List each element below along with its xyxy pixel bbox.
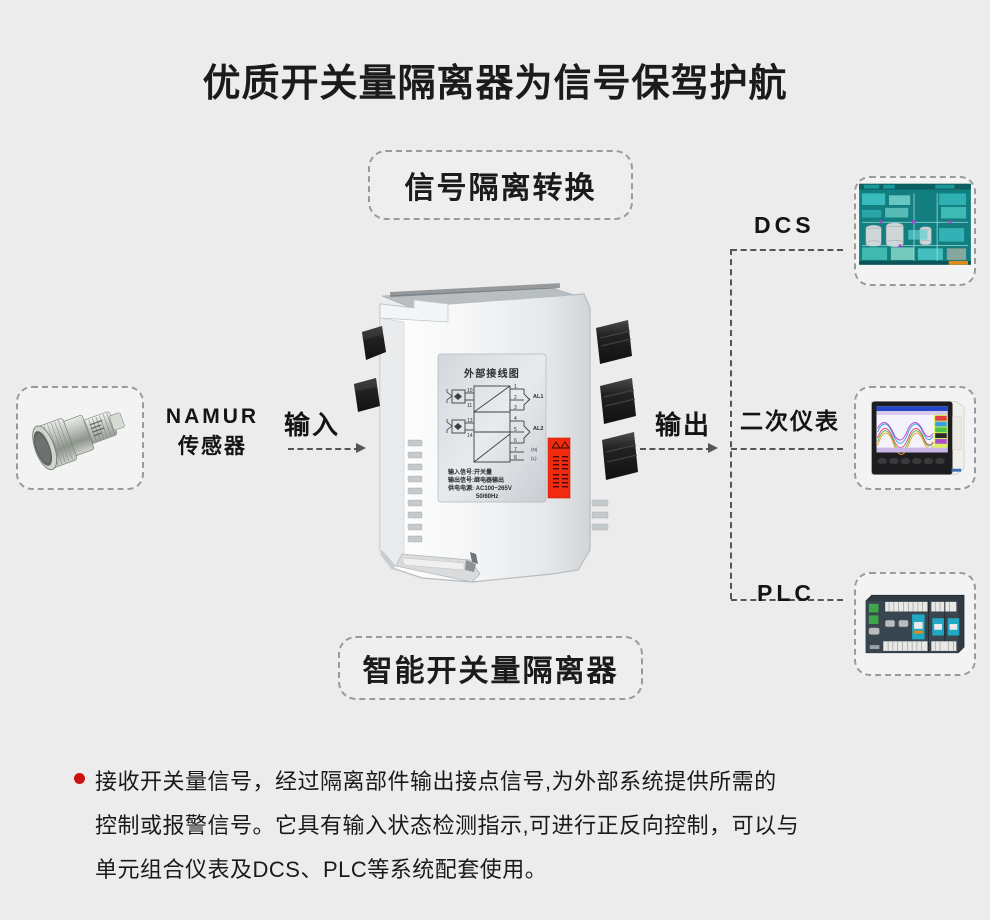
sensor-label-en: NAMUR — [150, 402, 275, 432]
output-label: 输出 — [655, 405, 711, 442]
plc-module-rack-icon — [856, 574, 974, 674]
svg-text:供电电源: AC100~265V: 供电电源: AC100~265V — [447, 484, 512, 492]
svg-text:14: 14 — [467, 433, 473, 439]
svg-text:AL2: AL2 — [533, 426, 543, 432]
sensor-label-cn: 传感器 — [150, 432, 275, 462]
svg-text:50/60Hz: 50/60Hz — [476, 494, 498, 500]
svg-text:1: 1 — [514, 384, 517, 390]
signal-isolator-device: 外部接线图 — [352, 282, 652, 594]
branch-line-secondary-instrument — [731, 448, 843, 450]
svg-text:11: 11 — [467, 403, 472, 409]
infographic-page: 优质开关量隔离器为信号保驾护航 信号隔离转换 智能开关量隔离器 — [0, 0, 990, 920]
recorder-image-frame — [854, 386, 976, 490]
svg-text:13: 13 — [467, 418, 473, 424]
svg-text:输出信号:继电器输出: 输出信号:继电器输出 — [448, 476, 504, 484]
label-box-signal-isolation-text: 信号隔离转换 — [405, 163, 597, 207]
plc-image-frame — [854, 572, 976, 676]
svg-text:8: 8 — [514, 455, 517, 461]
description-line-1: 接收开关量信号，经过隔离部件输出接点信号,为外部系统提供所需的 — [95, 760, 963, 804]
svg-text:5: 5 — [514, 427, 517, 433]
svg-text:7: 7 — [514, 447, 517, 453]
input-label: 输入 — [284, 405, 340, 442]
plc-label: PLC — [757, 580, 815, 607]
output-arrow-head-icon — [708, 443, 718, 453]
input-arrow-line — [288, 448, 360, 450]
description-line-2: 控制或报警信号。它具有输入状态检测指示,可进行正反向控制，可以与 — [95, 804, 963, 848]
description-paragraph: 接收开关量信号，经过隔离部件输出接点信号,为外部系统提供所需的 控制或报警信号。… — [95, 760, 963, 892]
svg-text:(L): (L) — [531, 456, 537, 461]
branch-line-dcs — [731, 249, 843, 251]
page-title: 优质开关量隔离器为信号保驾护航 — [0, 52, 990, 107]
svg-text:输入信号:开关量: 输入信号:开关量 — [448, 468, 492, 476]
output-bracket-vertical — [730, 249, 732, 599]
bullet-point-icon — [74, 773, 85, 784]
svg-text:4: 4 — [514, 416, 517, 422]
svg-text:6: 6 — [514, 438, 517, 444]
label-box-smart-isolator-text: 智能开关量隔离器 — [363, 646, 619, 690]
dcs-label: DCS — [754, 212, 815, 239]
dcs-scada-screen-icon — [856, 178, 974, 284]
description-line-3: 单元组合仪表及DCS、PLC等系统配套使用。 — [95, 848, 963, 892]
sensor-image-frame — [16, 386, 144, 490]
dcs-image-frame — [854, 176, 976, 286]
label-box-signal-isolation: 信号隔离转换 — [368, 150, 633, 220]
svg-text:AL1: AL1 — [533, 394, 543, 400]
paperless-recorder-icon — [856, 388, 974, 488]
secondary-instrument-label: 二次仪表 — [740, 402, 840, 436]
label-box-smart-isolator: 智能开关量隔离器 — [338, 636, 643, 700]
namur-proximity-sensor-icon — [18, 388, 142, 488]
svg-text:2: 2 — [514, 395, 517, 401]
svg-text:外部接线图: 外部接线图 — [463, 367, 520, 380]
sensor-label: NAMUR 传感器 — [150, 402, 275, 462]
svg-text:(N): (N) — [531, 447, 538, 452]
svg-text:10: 10 — [467, 388, 473, 394]
svg-text:3: 3 — [514, 405, 517, 411]
isolator-illustration: 外部接线图 — [352, 282, 652, 594]
